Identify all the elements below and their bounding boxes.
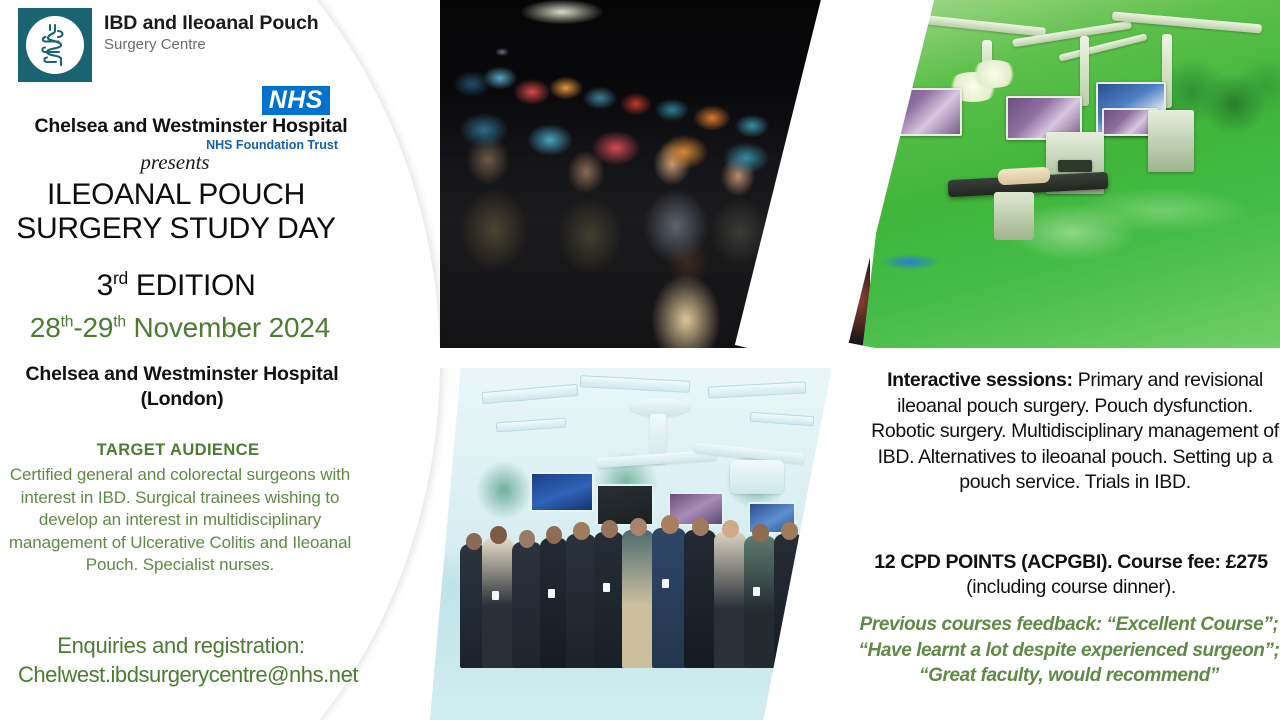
- date-month-year: November 2024: [126, 312, 330, 343]
- event-dates: 28th-29th November 2024: [0, 312, 360, 344]
- edition-number: 3: [97, 269, 113, 302]
- organisation-logo-block: IBD and Ileoanal Pouch Surgery Centre NH…: [18, 8, 364, 152]
- centre-name-line1: IBD and Ileoanal Pouch: [104, 13, 319, 35]
- conference-poster: IBD and Ileoanal Pouch Surgery Centre NH…: [0, 0, 1280, 720]
- operating-theatre-photo: [862, 0, 1280, 352]
- interactive-sessions-label: Interactive sessions:: [887, 369, 1073, 391]
- venue: Chelsea and Westminster Hospital (London…: [4, 362, 360, 412]
- date-day-end-ordinal: th: [113, 314, 126, 331]
- edition-ordinal: rd: [113, 268, 128, 288]
- edition-label: 3rd EDITION: [0, 268, 352, 303]
- venue-line-1: Chelsea and Westminster Hospital: [4, 362, 360, 387]
- course-fee-note: (including course dinner).: [862, 575, 1280, 600]
- centre-name-line2: Surgery Centre: [104, 36, 319, 54]
- date-day-end: 29: [82, 312, 113, 343]
- target-audience-heading: TARGET AUDIENCE: [0, 441, 356, 460]
- auditorium-audience-photo: [440, 0, 870, 352]
- target-audience-body: Certified general and colorectal surgeon…: [4, 464, 356, 577]
- page-title: ILEOANAL POUCH SURGERY STUDY DAY: [0, 178, 352, 246]
- centre-name: IBD and Ileoanal Pouch Surgery Centre: [104, 8, 319, 54]
- date-day-start-ordinal: th: [61, 314, 74, 331]
- enquiries-label: Enquiries and registration:: [0, 632, 362, 660]
- cpd-and-fee: 12 CPD POINTS (ACPGBI). Course fee: £275…: [862, 550, 1280, 601]
- title-line-1: ILEOANAL POUCH: [0, 178, 352, 212]
- bowel-intestine-icon: [18, 8, 92, 82]
- presents-label: presents: [0, 150, 350, 175]
- interactive-sessions: Interactive sessions: Primary and revisi…: [870, 368, 1280, 496]
- left-info-panel: IBD and Ileoanal Pouch Surgery Centre NH…: [0, 0, 378, 720]
- contact-email[interactable]: Chelwest.ibdsurgerycentre@nhs.net: [0, 662, 376, 688]
- date-day-start: 28: [30, 312, 61, 343]
- title-line-2: SURGERY STUDY DAY: [0, 212, 352, 246]
- cpd-points-line: 12 CPD POINTS (ACPGBI). Course fee: £275: [862, 550, 1280, 575]
- edition-word: EDITION: [128, 269, 256, 302]
- trust-name: Chelsea and Westminster Hospital: [18, 116, 364, 137]
- nhs-logo: NHS: [262, 86, 330, 115]
- right-info-panel: Interactive sessions: Primary and revisi…: [856, 362, 1280, 720]
- previous-feedback: Previous courses feedback: “Excellent Co…: [858, 612, 1280, 689]
- venue-line-2: (London): [4, 387, 360, 412]
- faculty-group-photo: [430, 362, 878, 720]
